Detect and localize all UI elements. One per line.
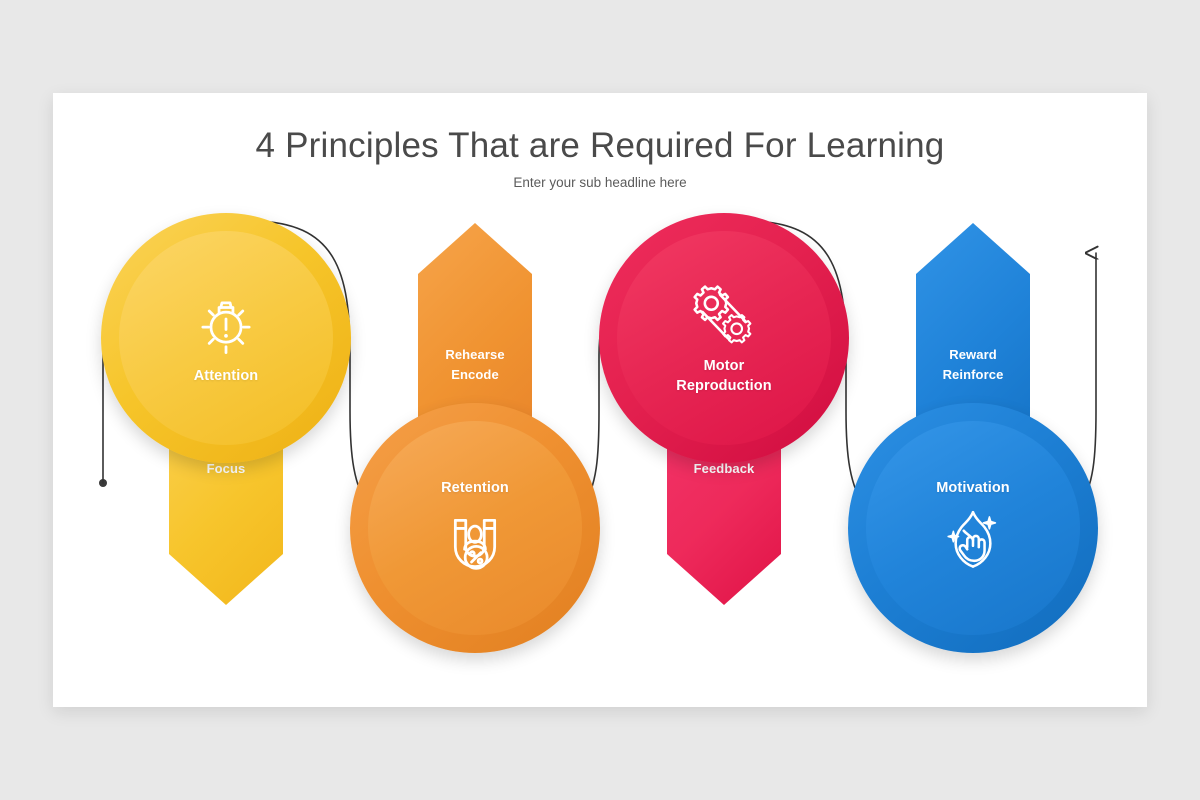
circle-content: Retention	[350, 403, 600, 653]
slide-card: 4 Principles That are Required For Learn…	[53, 93, 1147, 707]
circle-motor-reproduction[interactable]: Motor Reproduction	[599, 213, 849, 463]
columns-container: Stimuli Focus	[53, 93, 1147, 707]
circle-label: Attention	[194, 367, 259, 387]
circle-label: Retention	[441, 479, 509, 499]
circle-label-line-1: Motor	[704, 358, 745, 374]
column-retention[interactable]: Rehearse Encode	[350, 213, 600, 653]
banner-line-2: Encode	[445, 365, 504, 385]
circle-content: Attention	[101, 213, 351, 463]
banner-line-1: Reward	[943, 345, 1004, 365]
column-motor-reproduction[interactable]: Practice Feedback	[599, 213, 849, 653]
gears-icon	[687, 279, 761, 353]
flame-fist-icon	[936, 503, 1010, 577]
magnet-person-percent-icon	[438, 503, 512, 577]
circle-label: Motor Reproduction	[676, 357, 771, 396]
banner-line-2: Reinforce	[943, 365, 1004, 385]
circle-label-line-2: Reproduction	[676, 378, 771, 394]
column-motivation[interactable]: Reward Reinforce	[848, 213, 1098, 653]
lightbulb-alert-icon	[189, 289, 263, 363]
circle-attention[interactable]: Attention	[101, 213, 351, 463]
column-attention[interactable]: Stimuli Focus	[101, 213, 351, 653]
banner-line-1: Rehearse	[445, 345, 504, 365]
circle-content: Motivation	[848, 403, 1098, 653]
circle-content: Motor Reproduction	[599, 213, 849, 463]
circle-retention[interactable]: Retention	[350, 403, 600, 653]
circle-motivation[interactable]: Motivation	[848, 403, 1098, 653]
circle-label: Motivation	[936, 479, 1010, 499]
